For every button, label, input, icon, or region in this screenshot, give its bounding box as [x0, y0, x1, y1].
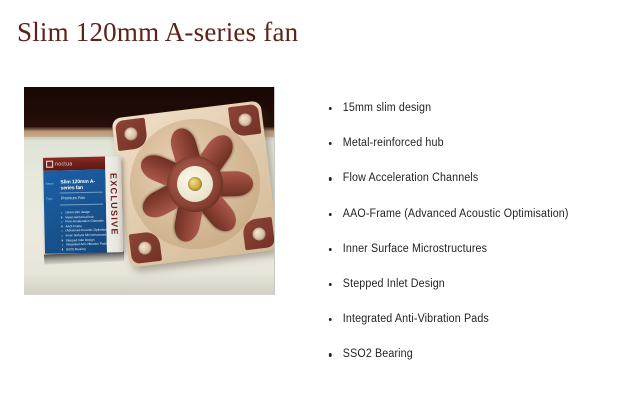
info-card-header: noctua	[43, 157, 105, 171]
page-title: Slim 120mm A-series fan	[17, 16, 298, 48]
fan-hub-metal-core	[187, 176, 203, 192]
product-photo: noctua Name Slim 120mm A-series fan Type…	[24, 87, 275, 295]
info-card-product-name: Slim 120mm A-series fan	[60, 179, 105, 192]
info-card-divider	[60, 192, 103, 194]
feature-list-item: AAO-Frame (Advanced Acoustic Optimisatio…	[327, 197, 606, 232]
feature-list-item: Inner Surface Microstructures	[327, 232, 606, 267]
feature-list-item: Integrated Anti-Vibration Pads	[327, 302, 606, 337]
feature-list-item: Flow Acceleration Channels	[327, 161, 606, 196]
info-card-body: Name Slim 120mm A-series fan Type Premiu…	[43, 170, 107, 254]
info-card: noctua Name Slim 120mm A-series fan Type…	[43, 156, 123, 254]
feature-list-item: Stepped Inlet Design	[327, 267, 606, 302]
feature-list: 15mm slim designMetal-reinforced hubFlow…	[327, 91, 627, 373]
fan-frame	[111, 100, 275, 267]
info-card-type-label: Type	[46, 197, 53, 201]
fan-hub-label	[175, 164, 215, 204]
info-card-exclusive-banner: EXCLUSIVE	[105, 156, 123, 252]
info-card-name-label: Name	[46, 182, 54, 186]
info-card-feature-list: 15mm slim designMetal-reinforced hubFlow…	[61, 210, 106, 252]
info-card-product-type: Premium Fan	[61, 195, 85, 201]
info-card-brand: noctua	[55, 160, 73, 167]
feature-list-item: SSO2 Bearing	[327, 337, 606, 372]
photo-table-shadow	[24, 273, 275, 295]
info-card-exclusive-strip: EXCLUSIVE	[105, 156, 123, 252]
fan-photo-object	[111, 100, 275, 267]
noctua-logo-icon	[46, 161, 53, 168]
info-card-feature-item: SSO2 Bearing	[62, 246, 106, 252]
info-card-divider	[60, 204, 103, 206]
feature-list-item: 15mm slim design	[327, 91, 606, 126]
feature-list-item: Metal-reinforced hub	[327, 126, 606, 161]
